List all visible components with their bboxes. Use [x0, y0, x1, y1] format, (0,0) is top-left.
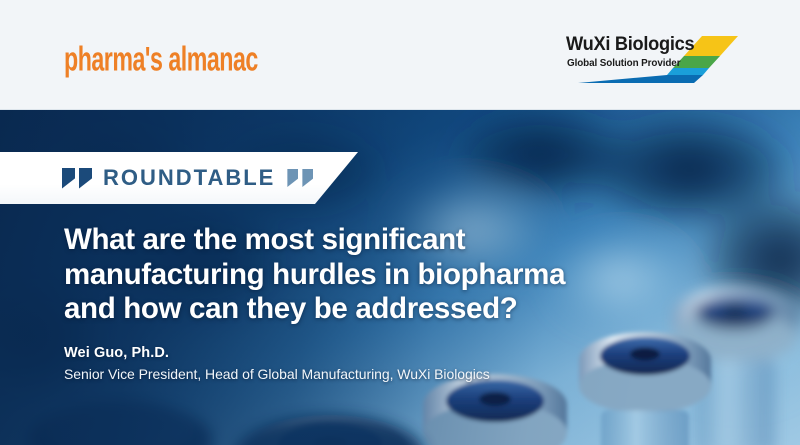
hero-section: ROUNDTABLE What are the most significant…: [0, 110, 800, 445]
speaker-name: Wei Guo, Ph.D.: [64, 345, 169, 361]
wuxi-tagline-text: Global Solution Provider: [567, 57, 680, 69]
quote-close-icon: [287, 169, 313, 187]
headline-line-1: What are the most significant: [64, 223, 624, 258]
page-header: pharma's almanac WuXi Biologics Global S…: [0, 0, 800, 110]
wuxi-biologics-logo[interactable]: WuXi Biologics Global Solution Provider: [552, 33, 742, 83]
headline: What are the most significant manufactur…: [64, 223, 624, 327]
headline-line-2: manufacturing hurdles in biopharma: [64, 258, 624, 293]
headline-line-3: and how can they be addressed?: [64, 292, 624, 327]
wuxi-name-text: WuXi Biologics: [566, 34, 694, 56]
banner-root: pharma's almanac WuXi Biologics Global S…: [0, 0, 800, 445]
roundtable-label: ROUNDTABLE: [103, 165, 275, 191]
roundtable-ribbon: ROUNDTABLE: [0, 152, 358, 204]
pharmas-almanac-logo[interactable]: pharma's almanac: [64, 41, 258, 80]
quote-open-icon: [62, 168, 92, 189]
speaker-title: Senior Vice President, Head of Global Ma…: [64, 366, 490, 382]
